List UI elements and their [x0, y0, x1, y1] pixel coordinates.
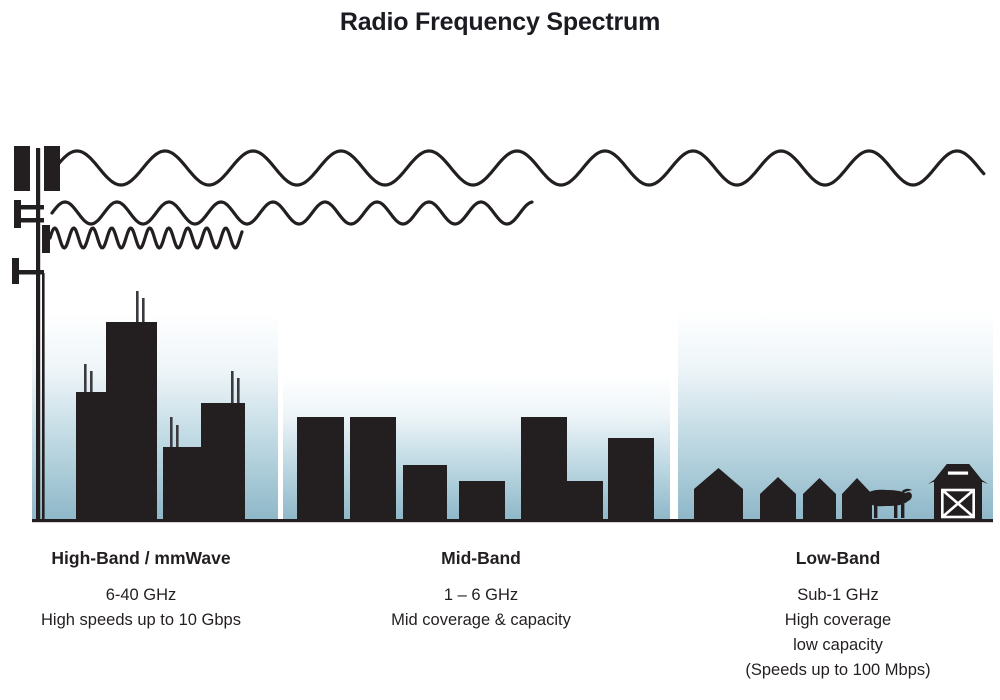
midband-building	[403, 465, 447, 519]
panel-antenna-mid-left	[14, 200, 21, 228]
panel-antenna-right	[44, 146, 60, 191]
panel-antenna-left	[14, 146, 30, 191]
caption-heading-low-band: Low-Band	[676, 548, 1000, 570]
building-spire	[84, 364, 87, 396]
city-building	[201, 403, 245, 519]
midband-building	[297, 417, 344, 519]
cow-leg	[901, 504, 904, 518]
midband-building	[608, 438, 654, 519]
midband-building	[521, 417, 567, 519]
cow-leg	[874, 504, 877, 518]
radio-waves	[50, 151, 984, 248]
building-spire	[142, 298, 145, 326]
caption-lines-high-band: 6-40 GHz High speeds up to 10 Gbps	[0, 583, 282, 633]
building-spire	[170, 417, 173, 451]
caption-lines-low-band: Sub-1 GHz High coverage low capacity (Sp…	[676, 583, 1000, 683]
caption-line: Mid coverage & capacity	[290, 608, 672, 633]
cow-leg	[894, 504, 897, 518]
caption-low-band: Low-Band Sub-1 GHz High coverage low cap…	[676, 548, 1000, 683]
high-band-wave	[50, 228, 242, 248]
city-building	[163, 447, 201, 519]
midband-building	[350, 417, 396, 519]
caption-line: 1 – 6 GHz	[290, 583, 672, 608]
caption-lines-mid-band: 1 – 6 GHz Mid coverage & capacity	[290, 583, 672, 633]
midband-building	[459, 481, 505, 519]
building-spire	[136, 291, 139, 326]
ground-baseline	[32, 519, 993, 522]
caption-line: 6-40 GHz	[0, 583, 282, 608]
panel-antenna-low	[12, 258, 19, 284]
cow-leg	[868, 504, 871, 518]
midband-building	[567, 481, 603, 519]
panel-antenna-mid-right	[42, 225, 50, 253]
city-building	[76, 392, 106, 519]
tower-mast-secondary	[42, 273, 45, 521]
building-spire	[231, 371, 234, 407]
caption-line: High coverage	[676, 608, 1000, 633]
caption-line: low capacity	[676, 633, 1000, 658]
city-building	[106, 322, 157, 519]
tower-mast	[36, 148, 40, 521]
caption-line: (Speeds up to 100 Mbps)	[676, 658, 1000, 683]
caption-line: Sub-1 GHz	[676, 583, 1000, 608]
low-band-wave	[55, 151, 984, 185]
caption-heading-high-band: High-Band / mmWave	[0, 548, 282, 570]
building-spire	[237, 378, 240, 407]
infographic-canvas: Radio Frequency Spectrum High-Band / mmW…	[0, 0, 1000, 700]
caption-high-band: High-Band / mmWave 6-40 GHz High speeds …	[0, 548, 282, 633]
mid-band-wave	[52, 202, 532, 224]
ground-line	[32, 519, 993, 522]
caption-line: High speeds up to 10 Gbps	[0, 608, 282, 633]
caption-heading-mid-band: Mid-Band	[290, 548, 672, 570]
caption-mid-band: Mid-Band 1 – 6 GHz Mid coverage & capaci…	[290, 548, 672, 633]
barn-loft-window	[948, 472, 968, 475]
